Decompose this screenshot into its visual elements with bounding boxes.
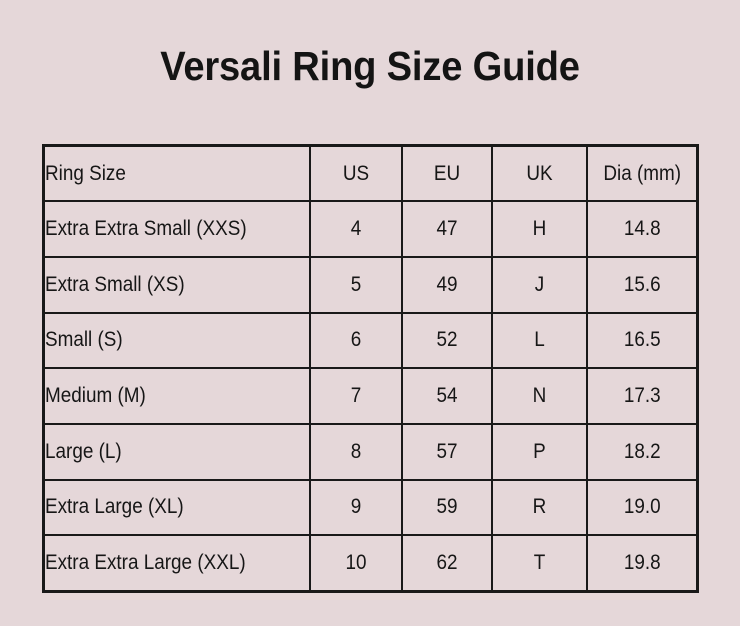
cell-ring-size: Extra Extra Small (XXS) — [44, 201, 310, 257]
table-row: Medium (M)754N17.3 — [44, 368, 698, 424]
cell-ring-size-value: Extra Small (XS) — [45, 273, 282, 297]
cell-ring-size: Extra Extra Large (XXL) — [44, 535, 310, 591]
cell-diameter: 16.5 — [587, 313, 698, 369]
cell-ring-size-value: Extra Large (XL) — [45, 495, 282, 519]
cell-diameter-value: 18.2 — [593, 440, 691, 464]
cell-uk-value: T — [497, 551, 581, 575]
cell-us-value: 5 — [315, 273, 396, 297]
cell-eu-value: 59 — [407, 495, 486, 519]
cell-us: 10 — [310, 535, 402, 591]
column-header-us-label: US — [315, 162, 396, 186]
table-header: Ring Size US EU UK Dia (mm) — [44, 146, 698, 202]
cell-uk-value: L — [497, 328, 581, 352]
cell-us: 7 — [310, 368, 402, 424]
cell-us-value: 8 — [315, 440, 396, 464]
cell-uk-value: N — [497, 384, 581, 408]
cell-uk-value: P — [497, 440, 581, 464]
cell-eu: 59 — [402, 480, 492, 536]
cell-uk: L — [492, 313, 587, 369]
cell-eu-value: 62 — [407, 551, 486, 575]
cell-uk: R — [492, 480, 587, 536]
cell-us-value: 7 — [315, 384, 396, 408]
column-header-ring-size-label: Ring Size — [45, 162, 282, 186]
cell-us-value: 4 — [315, 217, 396, 241]
cell-uk-value: H — [497, 217, 581, 241]
table-row: Extra Large (XL)959R19.0 — [44, 480, 698, 536]
cell-diameter-value: 17.3 — [593, 384, 691, 408]
column-header-diameter-label: Dia (mm) — [593, 162, 691, 186]
cell-eu: 49 — [402, 257, 492, 313]
cell-ring-size-value: Small (S) — [45, 328, 282, 352]
table-row: Extra Small (XS)549J15.6 — [44, 257, 698, 313]
table-body: Extra Extra Small (XXS)447H14.8Extra Sma… — [44, 201, 698, 591]
cell-eu: 57 — [402, 424, 492, 480]
column-header-ring-size: Ring Size — [44, 146, 310, 202]
cell-eu-value: 57 — [407, 440, 486, 464]
cell-diameter: 18.2 — [587, 424, 698, 480]
cell-ring-size: Medium (M) — [44, 368, 310, 424]
ring-size-table: Ring Size US EU UK Dia (mm) Extra Extra … — [42, 144, 699, 593]
cell-eu: 47 — [402, 201, 492, 257]
cell-us-value: 10 — [315, 551, 396, 575]
cell-uk: H — [492, 201, 587, 257]
table-header-row: Ring Size US EU UK Dia (mm) — [44, 146, 698, 202]
cell-uk: P — [492, 424, 587, 480]
column-header-us: US — [310, 146, 402, 202]
cell-us: 4 — [310, 201, 402, 257]
cell-ring-size: Small (S) — [44, 313, 310, 369]
cell-eu: 52 — [402, 313, 492, 369]
table-row: Large (L)857P18.2 — [44, 424, 698, 480]
cell-eu-value: 47 — [407, 217, 486, 241]
cell-us: 6 — [310, 313, 402, 369]
cell-eu-value: 52 — [407, 328, 486, 352]
page-title: Versali Ring Size Guide — [26, 42, 714, 90]
cell-uk-value: R — [497, 495, 581, 519]
cell-diameter: 17.3 — [587, 368, 698, 424]
column-header-eu-label: EU — [407, 162, 486, 186]
cell-ring-size: Extra Small (XS) — [44, 257, 310, 313]
cell-ring-size: Large (L) — [44, 424, 310, 480]
ring-size-guide-page: Versali Ring Size Guide Ring Size US EU — [0, 0, 740, 626]
cell-us-value: 9 — [315, 495, 396, 519]
cell-diameter-value: 14.8 — [593, 217, 691, 241]
cell-eu: 62 — [402, 535, 492, 591]
column-header-diameter: Dia (mm) — [587, 146, 698, 202]
cell-ring-size-value: Extra Extra Small (XXS) — [45, 217, 282, 241]
cell-ring-size-value: Large (L) — [45, 440, 282, 464]
cell-diameter: 14.8 — [587, 201, 698, 257]
cell-uk: J — [492, 257, 587, 313]
column-header-eu: EU — [402, 146, 492, 202]
table-row: Small (S)652L16.5 — [44, 313, 698, 369]
cell-us: 9 — [310, 480, 402, 536]
cell-eu-value: 54 — [407, 384, 486, 408]
cell-us-value: 6 — [315, 328, 396, 352]
cell-diameter-value: 16.5 — [593, 328, 691, 352]
cell-uk-value: J — [497, 273, 581, 297]
cell-diameter: 19.8 — [587, 535, 698, 591]
cell-uk: T — [492, 535, 587, 591]
cell-us: 8 — [310, 424, 402, 480]
cell-diameter-value: 15.6 — [593, 273, 691, 297]
cell-diameter: 19.0 — [587, 480, 698, 536]
cell-ring-size: Extra Large (XL) — [44, 480, 310, 536]
column-header-uk: UK — [492, 146, 587, 202]
table-row: Extra Extra Large (XXL)1062T19.8 — [44, 535, 698, 591]
cell-ring-size-value: Extra Extra Large (XXL) — [45, 551, 282, 575]
cell-uk: N — [492, 368, 587, 424]
cell-ring-size-value: Medium (M) — [45, 384, 282, 408]
cell-diameter: 15.6 — [587, 257, 698, 313]
table-row: Extra Extra Small (XXS)447H14.8 — [44, 201, 698, 257]
column-header-uk-label: UK — [497, 162, 581, 186]
cell-eu: 54 — [402, 368, 492, 424]
cell-us: 5 — [310, 257, 402, 313]
cell-diameter-value: 19.0 — [593, 495, 691, 519]
cell-diameter-value: 19.8 — [593, 551, 691, 575]
cell-eu-value: 49 — [407, 273, 486, 297]
